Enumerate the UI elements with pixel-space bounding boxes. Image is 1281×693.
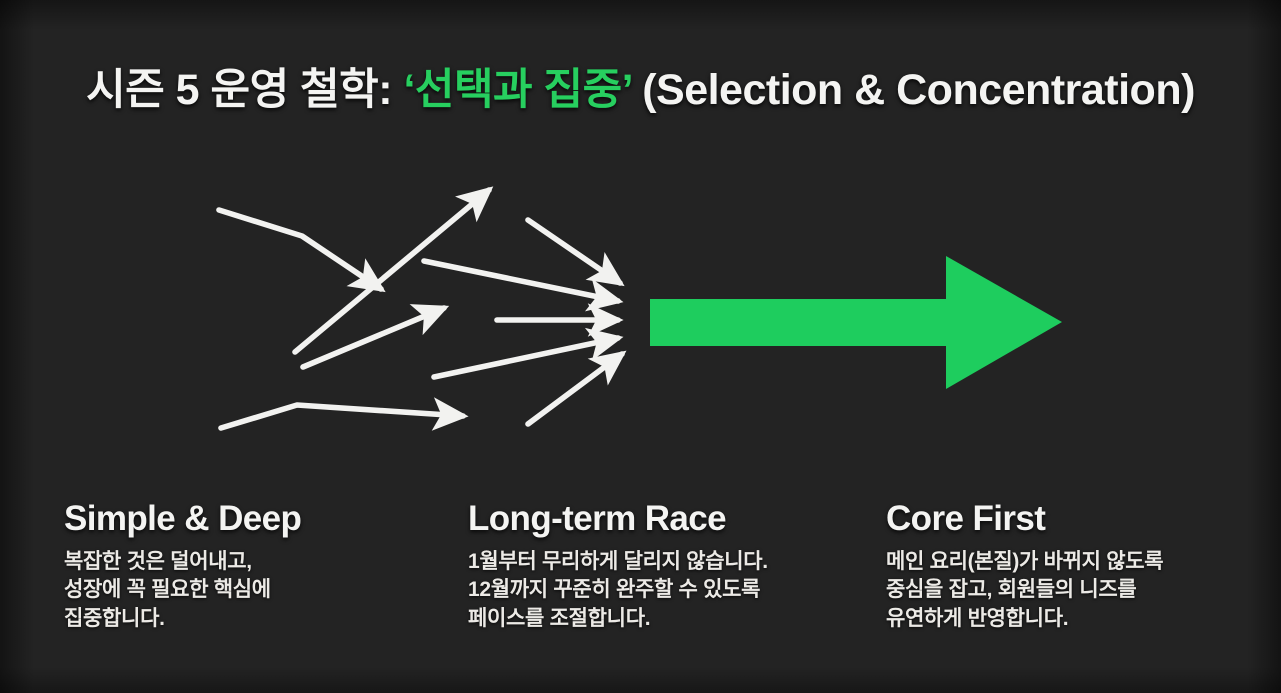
page-title: 시즌 5 운영 철학: ‘선택과 집중’ (Selection & Concen…: [0, 66, 1281, 115]
pillars-row: Simple & Deep 복잡한 것은 덜어내고, 성장에 꼭 필요한 핵심에…: [0, 500, 1281, 693]
converging-arrow-4: [434, 338, 618, 377]
slide-canvas: 시즌 5 운영 철학: ‘선택과 집중’ (Selection & Concen…: [0, 0, 1281, 693]
scatter-arrow-3: [221, 405, 463, 428]
result-green-arrow: [650, 256, 1062, 389]
pillar-body-line: 12월까지 꾸준히 완주할 수 있도록: [468, 576, 868, 605]
scatter-arrow-4: [303, 308, 444, 367]
pillar-body-line: 메인 요리(본질)가 바뀌지 않도록: [886, 548, 1266, 577]
pillar-body-line: 중심을 잡고, 회원들의 니즈를: [886, 576, 1266, 605]
pillar-heading: Core First: [886, 500, 1266, 539]
pillar-long-term-race: Long-term Race 1월부터 무리하게 달리지 않습니다. 12월까지…: [468, 500, 868, 634]
pillar-body-line: 집중합니다.: [64, 605, 434, 634]
scatter-arrow-1: [219, 210, 381, 289]
pillar-body-line: 복잡한 것은 덜어내고,: [64, 548, 434, 577]
converging-arrow-5: [528, 354, 622, 424]
pillar-body-line: 성장에 꼭 필요한 핵심에: [64, 576, 434, 605]
pillar-heading: Simple & Deep: [64, 500, 434, 539]
pillar-core-first: Core First 메인 요리(본질)가 바뀌지 않도록 중심을 잡고, 회원…: [886, 500, 1266, 634]
title-accent: ‘선택과 집중’: [403, 66, 631, 114]
pillar-body: 1월부터 무리하게 달리지 않습니다. 12월까지 꾸준히 완주할 수 있도록 …: [468, 548, 868, 634]
pillar-simple-and-deep: Simple & Deep 복잡한 것은 덜어내고, 성장에 꼭 필요한 핵심에…: [64, 500, 434, 634]
pillar-body-line: 페이스를 조절합니다.: [468, 605, 868, 634]
converging-arrow-2: [424, 261, 618, 301]
title-trail: (Selection & Concentration): [632, 66, 1195, 114]
pillar-body-line: 1월부터 무리하게 달리지 않습니다.: [468, 548, 868, 577]
converging-arrow-1: [528, 220, 620, 283]
pillar-body-line: 유연하게 반영합니다.: [886, 605, 1266, 634]
pillar-heading: Long-term Race: [468, 500, 868, 539]
title-text: 시즌 5 운영 철학: ‘선택과 집중’ (Selection & Concen…: [86, 66, 1195, 115]
pillar-body: 메인 요리(본질)가 바뀌지 않도록 중심을 잡고, 회원들의 니즈를 유연하게…: [886, 548, 1266, 634]
pillar-body: 복잡한 것은 덜어내고, 성장에 꼭 필요한 핵심에 집중합니다.: [64, 548, 434, 634]
title-lead: 시즌 5 운영 철학:: [86, 66, 403, 114]
